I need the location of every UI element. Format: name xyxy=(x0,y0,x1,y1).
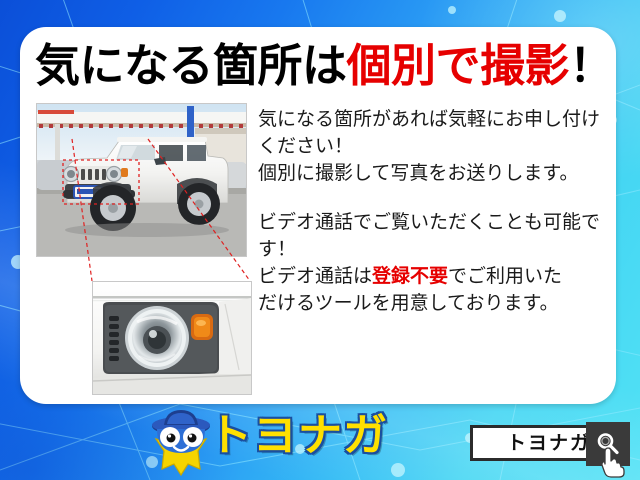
toyonaga-mascot-icon xyxy=(148,409,214,477)
headline-black-prefix: 気になる箇所は xyxy=(35,43,347,88)
headline-suffix: ！ xyxy=(569,43,614,88)
para2-line2: す！ xyxy=(258,237,606,264)
paragraph-spacer xyxy=(258,188,606,210)
promo-banner: 気になる箇所は個別で撮影！ xyxy=(0,0,640,480)
para2-line4: だけるツールを用意しております。 xyxy=(258,291,606,318)
mouse-cursor-icon xyxy=(600,446,626,478)
para1-line1: 気になる箇所があれば気軽にお申し付け xyxy=(258,107,606,134)
vehicle-photo xyxy=(36,103,247,257)
para1-line2: ください！ xyxy=(258,134,606,161)
brand-name: トヨナガ xyxy=(208,414,388,458)
para1-line3: 個別に撮影して写真をお送りします。 xyxy=(258,161,606,188)
headline-red-emphasis: 個別で撮影 xyxy=(347,43,570,88)
description-text: 気になる箇所があれば気軽にお申し付け ください！ 個別に撮影して写真をお送りしま… xyxy=(258,107,606,318)
para2-line1: ビデオ通話でご覧いただくことも可能で xyxy=(258,210,606,237)
para2-line3: ビデオ通話は登録不要でご利用いた xyxy=(258,264,606,291)
para2-line3-pre: ビデオ通話は xyxy=(258,266,372,287)
content-card: 気になる箇所は個別で撮影！ xyxy=(20,27,616,404)
para2-line3-red-emphasis: 登録不要 xyxy=(372,266,448,287)
para2-line3-post: でご利用いた xyxy=(448,266,562,287)
page-title: 気になる箇所は個別で撮影！ xyxy=(35,35,605,95)
headlight-closeup-photo xyxy=(92,281,252,395)
